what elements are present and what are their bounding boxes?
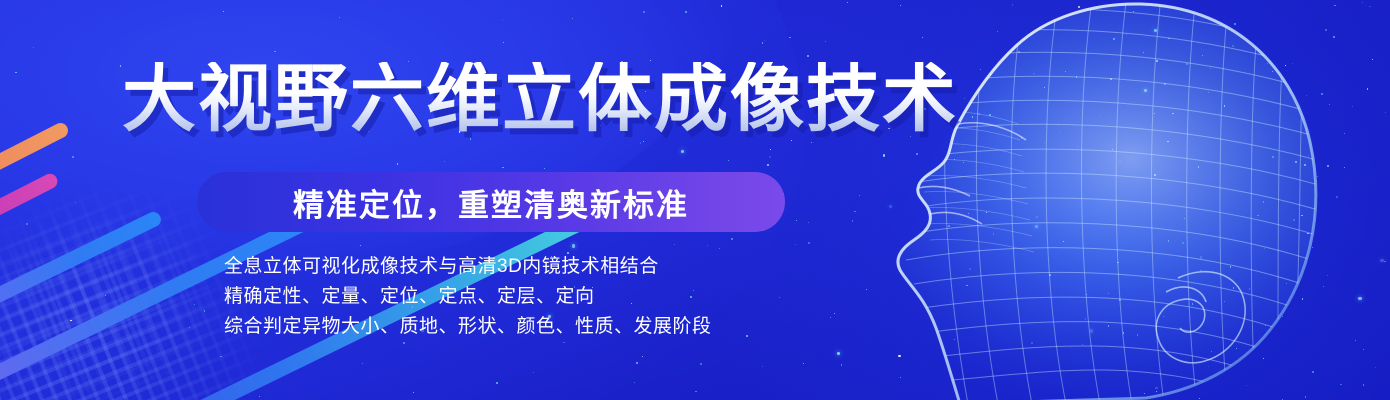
star-dot (1076, 76, 1077, 77)
star-dot (1108, 293, 1109, 294)
star-dot (1230, 266, 1231, 267)
star-dot (1208, 92, 1209, 93)
star-dot (1060, 132, 1061, 133)
star-dot (922, 37, 923, 38)
star-dot (1246, 385, 1247, 386)
star-dot (1363, 384, 1364, 385)
star-dot (1367, 88, 1368, 89)
text-content: 大视野六维立体成像技术 精准定位，重塑清奥新标准 全息立体可视化成像技术与高清3… (0, 0, 900, 400)
star-dot (1232, 45, 1234, 47)
star-dot (1327, 165, 1329, 167)
star-dot (1065, 173, 1066, 174)
star-dot (980, 69, 981, 70)
star-dot (1362, 2, 1363, 3)
star-dot (1113, 38, 1115, 40)
star-dot (1164, 83, 1166, 85)
star-dot (948, 225, 950, 227)
star-dot (1192, 303, 1193, 304)
star-dot (1363, 349, 1364, 350)
star-dot (1154, 29, 1157, 32)
star-dot (954, 339, 955, 340)
star-dot (1211, 351, 1212, 352)
star-dot (1340, 384, 1341, 385)
star-dot (1358, 297, 1361, 300)
star-dot (1352, 106, 1353, 107)
star-dot (1198, 166, 1199, 167)
star-dot (1355, 340, 1356, 341)
star-dot (1143, 52, 1144, 53)
star-dot (1272, 156, 1274, 158)
star-dot (1292, 63, 1293, 64)
star-dot (1224, 301, 1225, 302)
star-dot (986, 212, 987, 213)
star-dot (1063, 241, 1064, 242)
star-dot (1156, 60, 1158, 62)
star-dot (972, 116, 973, 117)
star-dot (1321, 93, 1323, 95)
star-dot (966, 285, 967, 286)
star-dot (1018, 51, 1020, 53)
star-dot (1369, 6, 1370, 7)
star-dot (1234, 23, 1236, 25)
star-dot (962, 147, 963, 148)
star-dot (1137, 334, 1138, 335)
star-dot (997, 31, 998, 32)
star-dot (1329, 104, 1330, 105)
star-dot (1184, 218, 1185, 219)
star-dot (1224, 105, 1225, 106)
star-dot (1151, 276, 1152, 277)
star-dot (1208, 366, 1209, 367)
star-dot (1312, 247, 1313, 248)
star-dot (1304, 164, 1306, 166)
banner-title: 大视野六维立体成像技术 (122, 62, 958, 136)
star-dot (1336, 196, 1337, 197)
star-dot (993, 233, 994, 234)
star-dot (1112, 149, 1113, 150)
star-dot (1380, 259, 1383, 262)
star-dot (1167, 141, 1168, 142)
star-dot (1119, 161, 1120, 162)
star-dot (1293, 219, 1295, 221)
star-dot (1182, 242, 1184, 244)
hero-banner: 大视野六维立体成像技术 精准定位，重塑清奥新标准 全息立体可视化成像技术与高清3… (0, 0, 1390, 400)
star-dot (1257, 215, 1258, 216)
star-dot (989, 114, 990, 115)
star-dot (1306, 95, 1307, 96)
star-dot (1108, 325, 1109, 326)
star-dot (1077, 146, 1078, 147)
star-dot (964, 98, 965, 99)
star-dot (1305, 396, 1306, 397)
star-dot (1021, 137, 1022, 138)
star-dot (1155, 387, 1157, 389)
star-dot (1168, 38, 1169, 39)
star-dot (1265, 325, 1266, 326)
star-dot (1263, 358, 1264, 359)
star-dot (1119, 299, 1121, 301)
star-dot (1031, 342, 1033, 344)
star-dot (1267, 63, 1268, 64)
star-dot (1126, 34, 1127, 35)
star-dot (1065, 71, 1066, 72)
star-dot (1110, 78, 1112, 80)
description-block: 全息立体可视化成像技术与高清3D内镜技术相结合 精确定性、定量、定位、定点、定层… (224, 252, 864, 342)
star-dot (963, 112, 964, 113)
star-dot (1308, 155, 1309, 156)
star-dot (1385, 112, 1386, 113)
star-dot (1325, 29, 1327, 31)
star-dot (1333, 36, 1335, 38)
star-dot (1307, 233, 1308, 234)
star-dot (1202, 55, 1203, 56)
star-dot (1249, 288, 1250, 289)
star-dot (1236, 348, 1237, 349)
star-dot (1187, 281, 1188, 282)
star-dot (1082, 344, 1083, 345)
star-dot (1012, 4, 1013, 5)
star-dot (1078, 6, 1080, 8)
star-dot (916, 153, 918, 155)
star-dot (1285, 65, 1286, 66)
star-dot (1156, 391, 1157, 392)
description-line-2: 精确定性、定量、定位、定点、定层、定向 (224, 282, 864, 312)
star-dot (954, 159, 955, 160)
star-dot (1200, 270, 1201, 271)
star-dot (1210, 68, 1211, 69)
star-dot (950, 301, 951, 302)
star-dot (1058, 124, 1059, 125)
star-dot (1049, 274, 1051, 276)
star-dot (1123, 332, 1124, 333)
star-dot (1344, 167, 1345, 168)
star-dot (1044, 142, 1045, 143)
star-dot (1144, 393, 1145, 394)
star-dot (1301, 215, 1302, 216)
star-dot (978, 113, 980, 115)
star-dot (1272, 71, 1273, 72)
star-dot (1015, 74, 1016, 75)
star-dot (1133, 11, 1134, 12)
star-dot (1302, 298, 1303, 299)
star-dot (969, 268, 971, 270)
star-dot (1044, 87, 1045, 88)
star-dot (1282, 316, 1283, 317)
star-dot (1086, 294, 1087, 295)
star-dot (1200, 256, 1202, 258)
star-dot (1233, 287, 1234, 288)
star-dot (1036, 216, 1038, 218)
star-dot (1334, 5, 1335, 6)
star-dot (1295, 161, 1297, 163)
star-dot (1190, 330, 1191, 331)
subtitle-pill: 精准定位，重塑清奥新标准 (197, 172, 785, 232)
star-dot (1199, 398, 1200, 399)
star-dot (1033, 73, 1034, 74)
star-dot (1168, 240, 1169, 241)
description-line-3: 综合判定异物大小、质地、形状、颜色、性质、发展阶段 (224, 312, 864, 342)
star-dot (1090, 329, 1093, 332)
star-dot (1144, 89, 1147, 92)
banner-subtitle: 精准定位，重塑清奥新标准 (293, 180, 689, 225)
star-dot (1035, 225, 1038, 228)
description-line-1: 全息立体可视化成像技术与高清3D内镜技术相结合 (224, 252, 864, 282)
star-dot (1117, 262, 1118, 263)
star-dot (1179, 277, 1180, 278)
star-dot (1372, 59, 1373, 60)
star-dot (1312, 371, 1314, 373)
star-dot (968, 213, 969, 214)
star-dot (1172, 113, 1173, 114)
star-dot (1323, 286, 1324, 287)
star-dot (1085, 318, 1086, 319)
star-dot (1384, 261, 1385, 262)
star-dot (1163, 316, 1164, 317)
star-dot (1186, 63, 1188, 65)
star-dot (1317, 176, 1318, 177)
star-dot (1100, 116, 1101, 117)
star-dot (1154, 174, 1156, 176)
star-dot (1264, 248, 1265, 249)
star-dot (1375, 367, 1376, 368)
star-dot (963, 162, 964, 163)
star-dot (1327, 275, 1328, 276)
star-dot (1154, 113, 1155, 114)
star-dot (1070, 347, 1071, 348)
star-dot (1263, 201, 1264, 202)
star-dot (1286, 283, 1287, 284)
star-dot (1344, 133, 1345, 134)
